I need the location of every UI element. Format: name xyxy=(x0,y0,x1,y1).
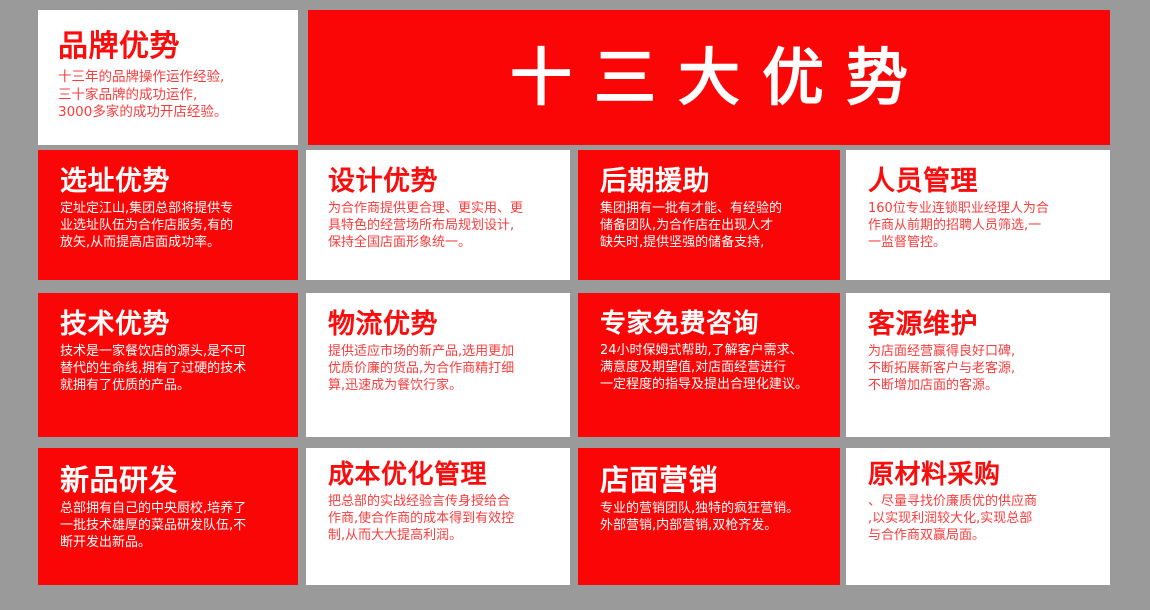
card-title: 选址优势 xyxy=(60,168,298,195)
card-title: 后期援助 xyxy=(600,168,840,195)
card-body: 集团拥有一批有才能、有经验的 储备团队,为合作店在出现人才 缺失时,提供坚强的储… xyxy=(600,201,840,252)
card-title: 人员管理 xyxy=(868,168,1110,195)
banner-title: 十三大优势 xyxy=(488,47,930,109)
card-body: 、尽量寻找价廉质优的供应商 ,以实现利润较大化,实现总部 与合作商双赢局面。 xyxy=(868,494,1110,545)
card-title: 原材料采购 xyxy=(868,462,1110,488)
card-title: 品牌优势 xyxy=(58,32,298,62)
card-free-expert-consulting: 专家免费咨询 24小时保姆式帮助,了解客户需求、 满意度及期望值,对店面经营进行… xyxy=(578,293,840,437)
card-technology-advantage: 技术优势 技术是一家餐饮店的源头,是不可 替代的生命线,拥有了过硬的技术 就拥有… xyxy=(38,293,298,437)
card-design: 设计优势 为合作商提供更合理、更实用、更 具特色的经营场所布局规划设计, 保持全… xyxy=(306,150,570,280)
card-후-support: 后期援助 集团拥有一批有才能、有经验的 储备团队,为合作店在出现人才 缺失时,提… xyxy=(578,150,840,280)
card-body: 把总部的实战经验言传身授给合 作商,使合作商的成本得到有效控 制,从而大大提高利… xyxy=(328,494,570,545)
card-title: 物流优势 xyxy=(328,311,570,338)
card-title: 成本优化管理 xyxy=(328,462,570,488)
card-body: 技术是一家餐饮店的源头,是不可 替代的生命线,拥有了过硬的技术 就拥有了优质的产… xyxy=(60,344,298,395)
card-personnel-management: 人员管理 160位专业连锁职业经理人为合 作商从前期的招聘人员筛选,一 一监督管… xyxy=(846,150,1110,280)
advantages-board: 品牌优势 十三年的品牌操作运作经验, 三十家品牌的成功运作, 3000多家的成功… xyxy=(0,0,1150,610)
card-brand-advantage: 品牌优势 十三年的品牌操作运作经验, 三十家品牌的成功运作, 3000多家的成功… xyxy=(38,10,298,145)
card-body: 定址定江山,集团总部将提供专 业选址队伍为合作店服务,有的 放矢,从而提高店面成… xyxy=(60,201,298,252)
card-body: 为合作商提供更合理、更实用、更 具特色的经营场所布局规划设计, 保持全国店面形象… xyxy=(328,201,570,252)
card-title: 客源维护 xyxy=(868,311,1110,338)
card-customer-retention: 客源维护 为店面经营赢得良好口碑, 不断拓展新客户与老客源, 不断增加店面的客源… xyxy=(846,293,1110,437)
card-body: 为店面经营赢得良好口碑, 不断拓展新客户与老客源, 不断增加店面的客源。 xyxy=(868,344,1110,395)
card-raw-material-purchasing: 原材料采购 、尽量寻找价廉质优的供应商 ,以实现利润较大化,实现总部 与合作商双… xyxy=(846,448,1110,585)
card-title: 店面营销 xyxy=(600,466,840,495)
card-body: 十三年的品牌操作运作经验, 三十家品牌的成功运作, 3000多家的成功开店经验。 xyxy=(58,69,298,122)
card-title: 新品研发 xyxy=(60,466,298,495)
card-title: 设计优势 xyxy=(328,168,570,195)
card-body: 24小时保姆式帮助,了解客户需求、 满意度及期望值,对店面经营进行 一定程度的指… xyxy=(600,343,840,394)
card-site-selection: 选址优势 定址定江山,集团总部将提供专 业选址队伍为合作店服务,有的 放矢,从而… xyxy=(38,150,298,280)
card-body: 160位专业连锁职业经理人为合 作商从前期的招聘人员筛选,一 一监督管控。 xyxy=(868,201,1110,252)
banner-headline: 十三大优势 xyxy=(308,10,1110,145)
card-new-product-rnd: 新品研发 总部拥有自己的中央厨校,培养了 一批技术雄厚的菜品研发队伍,不 断开发… xyxy=(38,448,298,585)
card-cost-optimization: 成本优化管理 把总部的实战经验言传身授给合 作商,使合作商的成本得到有效控 制,… xyxy=(306,448,570,585)
card-body: 专业的营销团队,独特的疯狂营销。 外部营销,内部营销,双枪齐发。 xyxy=(600,501,840,535)
card-body: 总部拥有自己的中央厨校,培养了 一批技术雄厚的菜品研发队伍,不 断开发出新品。 xyxy=(60,501,298,552)
card-logistics-advantage: 物流优势 提供适应市场的新产品,选用更加 优质价廉的货品,为合作商精打细 算,迅… xyxy=(306,293,570,437)
card-title: 技术优势 xyxy=(60,311,298,338)
card-title: 专家免费咨询 xyxy=(600,311,840,337)
card-body: 提供适应市场的新产品,选用更加 优质价廉的货品,为合作商精打细 算,迅速成为餐饮… xyxy=(328,344,570,395)
card-store-marketing: 店面营销 专业的营销团队,独特的疯狂营销。 外部营销,内部营销,双枪齐发。 xyxy=(578,448,840,585)
